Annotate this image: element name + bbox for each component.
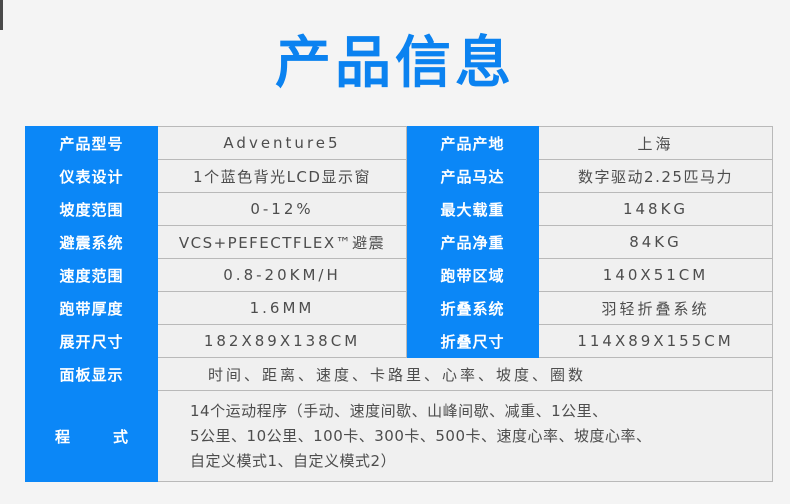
- spec-value-programs: 14个运动程序（手动、速度间歇、山峰间歇、减重、1公里、 5公里、10公里、10…: [158, 391, 773, 482]
- program-line-3: 自定义模式1、自定义模式2）: [190, 449, 772, 474]
- table-row: 产品型号 Adventure5 产品产地 上海: [26, 127, 773, 160]
- spec-label-programs: 程 式: [26, 391, 158, 482]
- spec-label-incline-range: 坡度范围: [26, 193, 158, 226]
- spec-value-origin: 上海: [539, 127, 773, 160]
- spec-value-folding-system: 羽轻折叠系统: [539, 292, 773, 325]
- table-row-programs: 程 式 14个运动程序（手动、速度间歇、山峰间歇、减重、1公里、 5公里、10公…: [26, 391, 773, 482]
- spec-value-console-design: 1个蓝色背光LCD显示窗: [158, 160, 407, 193]
- spec-label-folded-size: 折叠尺寸: [407, 325, 539, 358]
- spec-label-panel-display: 面板显示: [26, 358, 158, 391]
- spec-label-cushioning-system: 避震系统: [26, 226, 158, 259]
- program-line-2: 5公里、10公里、100卡、300卡、500卡、速度心率、坡度心率、: [190, 424, 772, 449]
- spec-label-speed-range: 速度范围: [26, 259, 158, 292]
- spec-label-running-area: 跑带区域: [407, 259, 539, 292]
- table-row-panel-display: 面板显示 时间、距离、速度、卡路里、心率、坡度、圈数: [26, 358, 773, 391]
- table-row: 跑带厚度 1.6MM 折叠系统 羽轻折叠系统: [26, 292, 773, 325]
- table-row: 仪表设计 1个蓝色背光LCD显示窗 产品马达 数字驱动2.25匹马力: [26, 160, 773, 193]
- program-line-1: 14个运动程序（手动、速度间歇、山峰间歇、减重、1公里、: [190, 399, 772, 424]
- left-edge-marker: [0, 0, 3, 30]
- table-row: 速度范围 0.8-20KM/H 跑带区域 140X51CM: [26, 259, 773, 292]
- spec-value-running-area: 140X51CM: [539, 259, 773, 292]
- spec-value-motor: 数字驱动2.25匹马力: [539, 160, 773, 193]
- spec-label-motor: 产品马达: [407, 160, 539, 193]
- spec-value-belt-thickness: 1.6MM: [158, 292, 407, 325]
- spec-value-cushioning-system: VCS+PEFECTFLEX™避震: [158, 226, 407, 259]
- page-title: 产品信息: [0, 32, 790, 96]
- spec-label-console-design: 仪表设计: [26, 160, 158, 193]
- spec-value-folded-size: 114X89X155CM: [539, 325, 773, 358]
- spec-label-net-weight: 产品净重: [407, 226, 539, 259]
- spec-value-unfolded-size: 182X89X138CM: [158, 325, 407, 358]
- spec-value-panel-display: 时间、距离、速度、卡路里、心率、坡度、圈数: [158, 358, 773, 391]
- spec-value-incline-range: 0-12%: [158, 193, 407, 226]
- spec-label-unfolded-size: 展开尺寸: [26, 325, 158, 358]
- spec-label-origin: 产品产地: [407, 127, 539, 160]
- spec-label-max-load: 最大载重: [407, 193, 539, 226]
- spec-label-folding-system: 折叠系统: [407, 292, 539, 325]
- spec-value-product-model: Adventure5: [158, 127, 407, 160]
- spec-value-net-weight: 84KG: [539, 226, 773, 259]
- spec-value-speed-range: 0.8-20KM/H: [158, 259, 407, 292]
- spec-label-belt-thickness: 跑带厚度: [26, 292, 158, 325]
- table-row: 展开尺寸 182X89X138CM 折叠尺寸 114X89X155CM: [26, 325, 773, 358]
- specification-table: 产品型号 Adventure5 产品产地 上海 仪表设计 1个蓝色背光LCD显示…: [25, 126, 773, 482]
- table-row: 避震系统 VCS+PEFECTFLEX™避震 产品净重 84KG: [26, 226, 773, 259]
- spec-label-product-model: 产品型号: [26, 127, 158, 160]
- spec-value-max-load: 148KG: [539, 193, 773, 226]
- table-row: 坡度范围 0-12% 最大载重 148KG: [26, 193, 773, 226]
- product-info-page: 产品信息 产品型号 Adventure5 产品产地 上海 仪表设计 1个蓝色背光…: [0, 0, 790, 504]
